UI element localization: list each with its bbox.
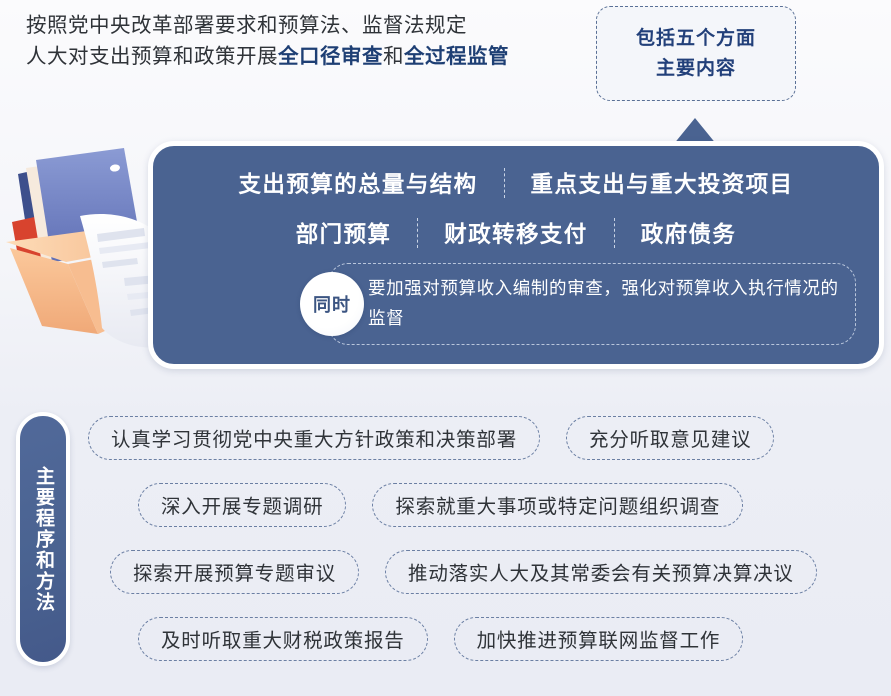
- pill-organize-investigation[interactable]: 探索就重大事项或特定问题组织调查: [372, 483, 743, 527]
- panel-divider-icon: [614, 218, 615, 248]
- panel-divider-icon: [417, 218, 418, 248]
- procedures-section: 主要程序和方法 认真学习贯彻党中央重大方针政策和决策部署 充分听取意见建议 深入…: [0, 392, 891, 696]
- pill-row-4: 及时听取重大财税政策报告 加快推进预算联网监督工作: [88, 605, 883, 672]
- panel-item-key-expenditure: 重点支出与重大投资项目: [517, 167, 808, 199]
- pill-row-1: 认真学习贯彻党中央重大方针政策和决策部署 充分听取意见建议: [88, 404, 883, 471]
- panel-divider-icon: [504, 168, 505, 198]
- pill-study-party-policy[interactable]: 认真学习贯彻党中央重大方针政策和决策部署: [88, 416, 540, 460]
- panel-item-government-debt: 政府债务: [627, 217, 751, 249]
- callout-line-2: 主要内容: [656, 54, 736, 84]
- header-highlight-quanguocheng: 全过程监管: [404, 45, 509, 68]
- pill-row-3: 探索开展预算专题审议 推动落实人大及其常委会有关预算决算决议: [88, 538, 883, 605]
- callout-five-aspects: 包括五个方面 主要内容: [596, 6, 796, 101]
- pill-listen-opinions[interactable]: 充分听取意见建议: [566, 416, 774, 460]
- pill-online-supervision[interactable]: 加快推进预算联网监督工作: [454, 617, 744, 661]
- vertical-label-text: 主要程序和方法: [28, 466, 58, 613]
- supplementary-note: 要加强对预算收入编制的审查，强化对预算收入执行情况的监督 同时: [300, 263, 856, 345]
- panel-item-total-structure: 支出预算的总量与结构: [225, 167, 492, 199]
- pill-budget-special-review[interactable]: 探索开展预算专题审议: [110, 550, 359, 594]
- panel-item-fiscal-transfer: 财政转移支付: [430, 217, 601, 249]
- note-badge-tongshi: 同时: [300, 272, 364, 336]
- header-line-2-mid: 和: [383, 45, 404, 68]
- note-text: 要加强对预算收入编制的审查，强化对预算收入执行情况的监督: [368, 273, 840, 333]
- panel-row-1: 支出预算的总量与结构 重点支出与重大投资项目: [225, 159, 808, 207]
- header-line-2-prefix: 人大对支出预算和政策开展: [26, 45, 278, 68]
- pill-row-2: 深入开展专题调研 探索就重大事项或特定问题组织调查: [88, 471, 883, 538]
- header-line-1: 按照党中央改革部署要求和预算法、监督法规定: [26, 10, 586, 41]
- vertical-label-procedures: 主要程序和方法: [16, 412, 70, 666]
- header-highlight-quankoujing: 全口径审查: [278, 45, 383, 68]
- pill-special-research[interactable]: 深入开展专题调研: [138, 483, 346, 527]
- procedure-pill-rows: 认真学习贯彻党中央重大方针政策和决策部署 充分听取意见建议 深入开展专题调研 探…: [88, 404, 883, 672]
- panel-item-department-budget: 部门预算: [282, 217, 406, 249]
- panel-item-rows: 支出预算的总量与结构 重点支出与重大投资项目 部门预算 财政转移支付 政府债务: [148, 159, 884, 257]
- pill-implement-resolutions[interactable]: 推动落实人大及其常委会有关预算决算决议: [385, 550, 817, 594]
- infographic-root: 按照党中央改革部署要求和预算法、监督法规定 人大对支出预算和政策开展全口径审查和…: [0, 0, 891, 696]
- header-heading: 按照党中央改革部署要求和预算法、监督法规定 人大对支出预算和政策开展全口径审查和…: [26, 10, 586, 72]
- header-line-2: 人大对支出预算和政策开展全口径审查和全过程监管: [26, 41, 586, 72]
- main-content-panel: 支出预算的总量与结构 重点支出与重大投资项目 部门预算 财政转移支付 政府债务 …: [148, 141, 884, 369]
- callout-line-1: 包括五个方面: [636, 24, 756, 54]
- pill-fiscal-policy-report[interactable]: 及时听取重大财税政策报告: [138, 617, 428, 661]
- panel-row-2: 部门预算 财政转移支付 政府债务: [282, 209, 751, 257]
